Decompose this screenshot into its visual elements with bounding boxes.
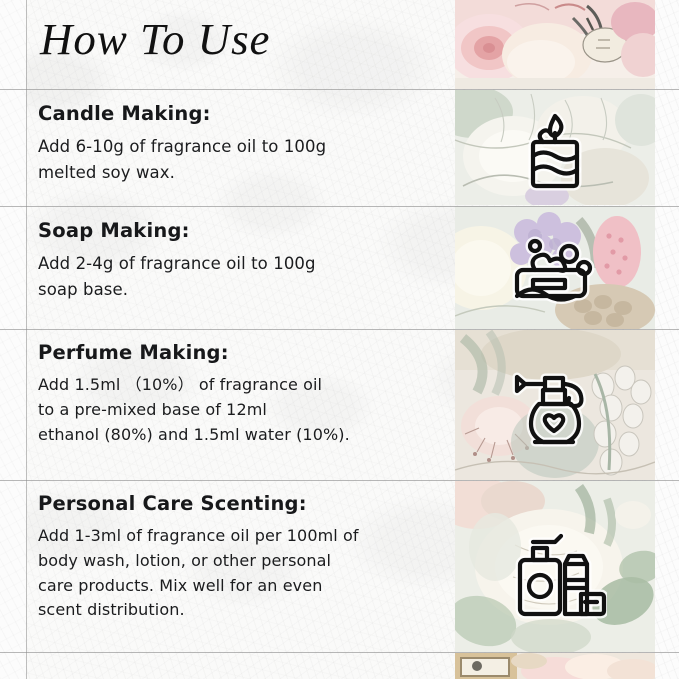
body-line: Add 6-10g of fragrance oil to 100g — [38, 134, 450, 160]
section-heading: Personal Care Scenting: — [38, 492, 450, 515]
body-line: Add 1.5ml （10%） of fragrance oil — [38, 373, 450, 398]
body-line: ethanol (80%) and 1.5ml water (10%). — [38, 423, 450, 448]
photo-magnolia-greens — [455, 90, 655, 205]
instructions-column: How To Use Candle Making: Add 6-10g of f… — [0, 0, 455, 679]
section-candle-making: Candle Making: Add 6-10g of fragrance oi… — [38, 102, 450, 185]
section-heading: Candle Making: — [38, 102, 450, 125]
page-title: How To Use — [40, 14, 271, 65]
section-body: Add 2-4g of fragrance oil to 100g soap b… — [38, 251, 450, 302]
body-line: care products. Mix well for an even — [38, 574, 450, 599]
photo-lilac-and-berry — [455, 206, 655, 329]
body-line: scent distribution. — [38, 598, 450, 623]
section-soap-making: Soap Making: Add 2-4g of fragrance oil t… — [38, 219, 450, 302]
body-line: Add 1-3ml of fragrance oil per 100ml of — [38, 524, 450, 549]
section-perfume-making: Perfume Making: Add 1.5ml （10%） of fragr… — [38, 341, 450, 447]
body-line: melted soy wax. — [38, 160, 450, 186]
right-margin-strip — [655, 0, 679, 679]
botanical-photo-band — [455, 0, 655, 679]
body-line: Add 2-4g of fragrance oil to 100g — [38, 251, 450, 277]
how-to-use-infographic: How To Use Candle Making: Add 6-10g of f… — [0, 0, 679, 679]
photo-white-blossom-leaves — [455, 481, 655, 652]
photo-rose-and-tag — [455, 0, 655, 89]
body-line: soap base. — [38, 277, 450, 303]
section-body: Add 1.5ml （10%） of fragrance oil to a pr… — [38, 373, 450, 447]
photo-floral-still-life — [455, 653, 655, 679]
section-heading: Soap Making: — [38, 219, 450, 242]
section-body: Add 6-10g of fragrance oil to 100g melte… — [38, 134, 450, 185]
section-body: Add 1-3ml of fragrance oil per 100ml of … — [38, 524, 450, 623]
body-line: to a pre-mixed base of 12ml — [38, 398, 450, 423]
body-line: body wash, lotion, or other personal — [38, 549, 450, 574]
photo-blossom-and-sage — [455, 330, 655, 480]
section-heading: Perfume Making: — [38, 341, 450, 364]
section-personal-care-scenting: Personal Care Scenting: Add 1-3ml of fra… — [38, 492, 450, 623]
